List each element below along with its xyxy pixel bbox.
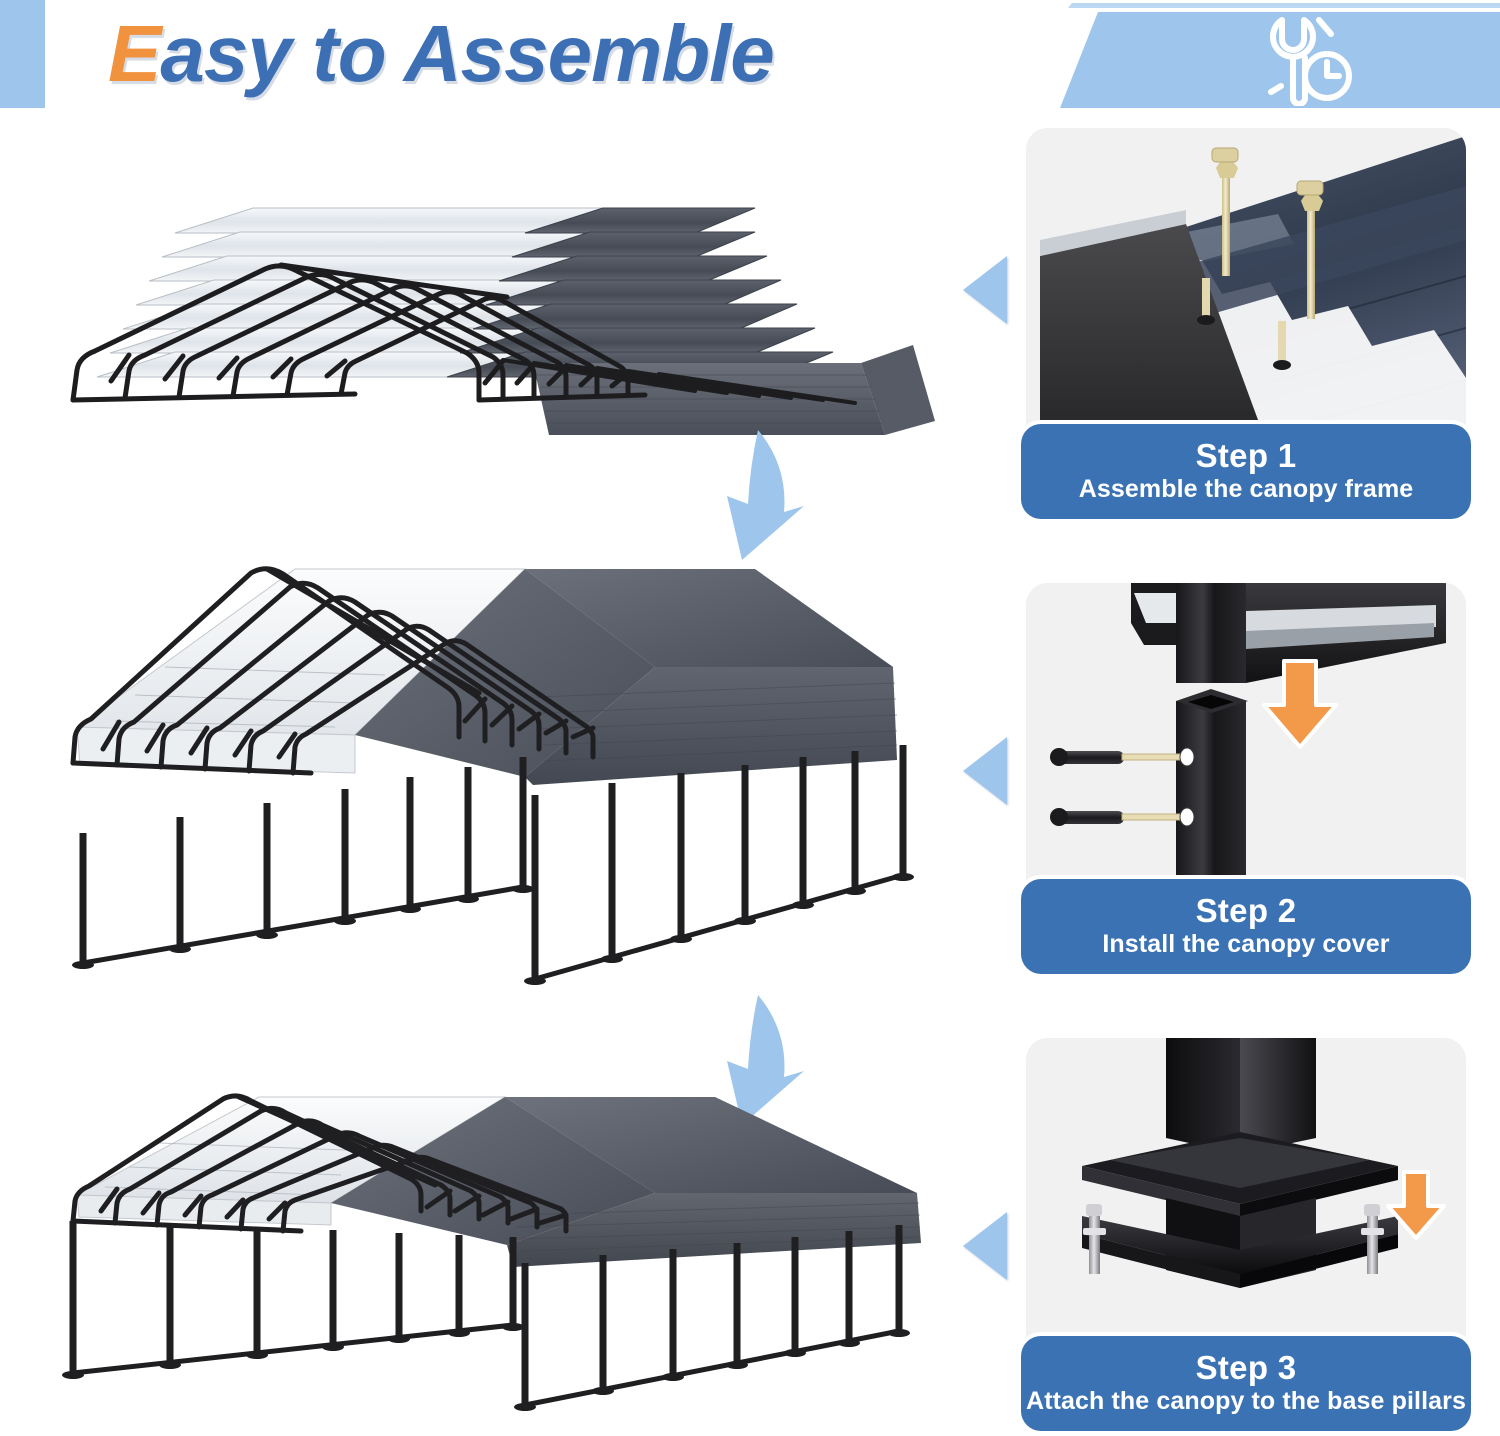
step-3-number: Step 3 — [1196, 1351, 1297, 1385]
header-banner-section: Easy to Assemble — [0, 0, 1500, 120]
step-2-description: Install the canopy cover — [1102, 930, 1389, 959]
step-3-description: Attach the canopy to the base pillars — [1026, 1387, 1466, 1416]
step-label-2: Step 2 Install the canopy cover — [1021, 879, 1471, 974]
post-with-bolts-photo — [1026, 583, 1466, 913]
roof-panel-with-screws-photo — [1026, 128, 1466, 458]
base-pillars-group — [72, 745, 914, 985]
canopy-roof-assembly — [73, 569, 897, 785]
header-banner-topline — [1068, 3, 1500, 8]
page-title-rest: asy to Assemble — [160, 9, 773, 98]
header-accent-bar — [0, 0, 45, 108]
stage-fully-assembled-carport — [55, 1075, 955, 1435]
pointer-triangle-step-3 — [963, 1212, 1007, 1280]
stage-canopy-frame-with-exploded-roof-panels — [55, 185, 955, 440]
page-title: Easy to Assemble — [108, 8, 774, 100]
step-1-description: Assemble the canopy frame — [1079, 475, 1414, 504]
step-1-number: Step 1 — [1196, 439, 1297, 473]
post-base-plate-with-anchors-photo — [1026, 1038, 1466, 1368]
wrench-clock-icon — [1235, 14, 1355, 106]
step-label-3: Step 3 Attach the canopy to the base pil… — [1021, 1336, 1471, 1431]
page-title-accent-letter: E — [108, 9, 160, 98]
pointer-triangle-step-1 — [963, 256, 1007, 324]
step-2-number: Step 2 — [1196, 894, 1297, 928]
stage-assembled-canopy-roof-above-base-posts — [55, 545, 955, 985]
step-label-1: Step 1 Assemble the canopy frame — [1021, 424, 1471, 519]
pointer-triangle-step-2 — [963, 737, 1007, 805]
